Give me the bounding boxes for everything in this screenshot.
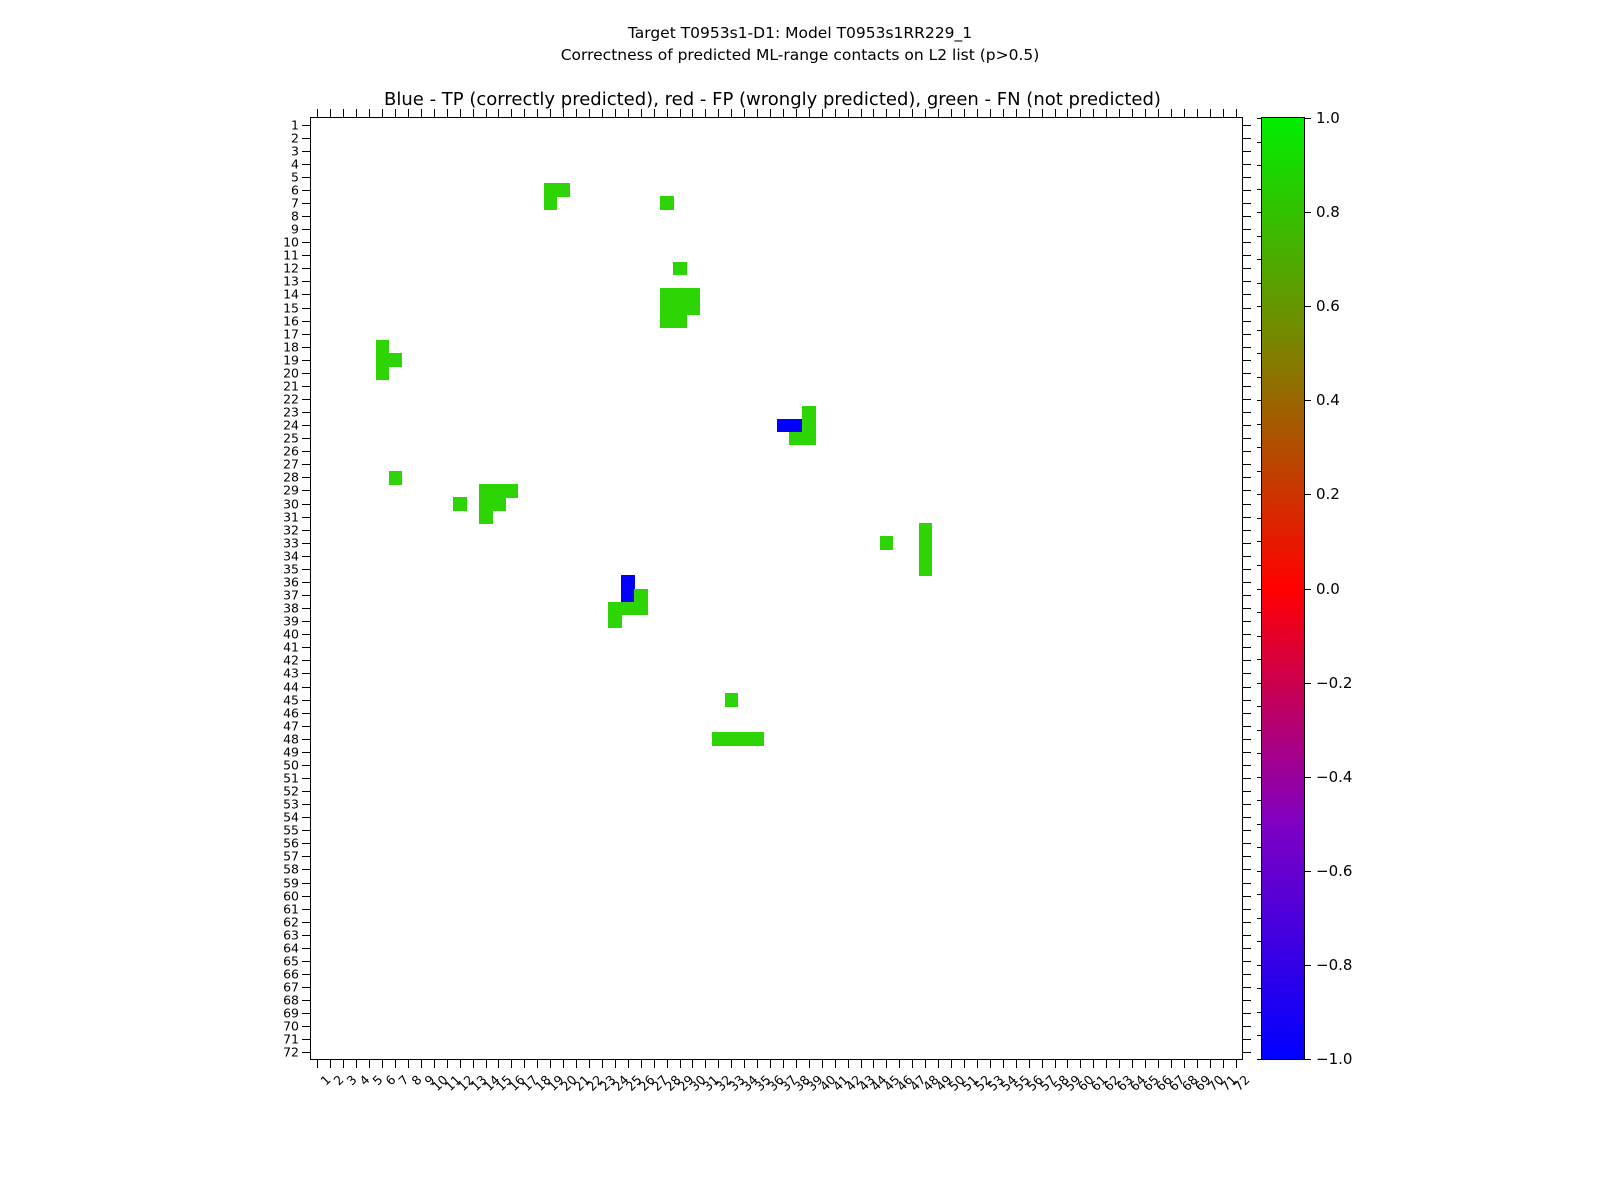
heatmap-cell: [789, 419, 803, 433]
x-tick-mark-top: [460, 109, 461, 118]
heatmap-cell: [479, 497, 493, 511]
x-tick-mark: [912, 1059, 913, 1068]
y-tick-mark: [302, 1026, 311, 1027]
colorbar-minor-tick: [1257, 659, 1262, 660]
x-tick-mark: [654, 1059, 655, 1068]
y-tick-mark-right: [1242, 883, 1251, 884]
colorbar-minor-tick: [1257, 118, 1262, 119]
x-tick-mark: [731, 1059, 732, 1068]
y-tick-mark: [302, 987, 311, 988]
x-tick-mark: [861, 1059, 862, 1068]
y-tick-mark-right: [1242, 229, 1251, 230]
x-tick-mark-top: [628, 109, 629, 118]
x-tick-mark-top: [1119, 109, 1120, 118]
colorbar-minor-tick: [1257, 1059, 1262, 1060]
y-tick-mark-right: [1242, 490, 1251, 491]
y-tick-mark-right: [1242, 294, 1251, 295]
heatmap-cell: [479, 484, 493, 498]
x-tick-mark-top: [770, 109, 771, 118]
y-tick-mark-right: [1242, 582, 1251, 583]
y-tick-mark: [302, 948, 311, 949]
x-tick-mark: [498, 1059, 499, 1068]
y-tick-mark: [302, 216, 311, 217]
colorbar-minor-tick: [1257, 306, 1262, 307]
x-tick-mark: [1029, 1059, 1030, 1068]
colorbar-tick-label: −0.2: [1316, 674, 1352, 692]
heatmap-cell: [673, 288, 687, 302]
heatmap-cell: [919, 562, 933, 576]
y-tick-mark: [302, 425, 311, 426]
x-tick-mark: [1003, 1059, 1004, 1068]
x-tick-mark: [796, 1059, 797, 1068]
heatmap-cell: [660, 314, 674, 328]
y-tick-mark-right: [1242, 869, 1251, 870]
y-tick-mark: [302, 517, 311, 518]
colorbar-tick-mark: [1304, 306, 1311, 307]
y-tick-mark-right: [1242, 125, 1251, 126]
y-tick-mark: [302, 660, 311, 661]
y-tick-mark: [302, 1052, 311, 1053]
contact-map-figure: Target T0953s1-D1: Model T0953s1RR229_1 …: [0, 0, 1600, 1200]
colorbar-minor-tick: [1257, 824, 1262, 825]
x-tick-mark-top: [1080, 109, 1081, 118]
x-tick-mark-top: [498, 109, 499, 118]
x-tick-mark: [770, 1059, 771, 1068]
y-tick-mark: [302, 726, 311, 727]
x-tick-mark: [434, 1059, 435, 1068]
heatmap-cell: [389, 353, 403, 367]
x-axis-tick-label: 72: [1230, 1072, 1252, 1094]
y-tick-mark: [302, 138, 311, 139]
heatmap-cell: [634, 589, 648, 603]
y-tick-mark-right: [1242, 164, 1251, 165]
y-tick-mark: [302, 308, 311, 309]
colorbar-minor-tick: [1257, 424, 1262, 425]
colorbar-minor-tick: [1257, 871, 1262, 872]
x-tick-mark-top: [667, 109, 668, 118]
y-tick-mark: [302, 229, 311, 230]
x-tick-mark-top: [873, 109, 874, 118]
y-tick-mark: [302, 896, 311, 897]
y-tick-mark-right: [1242, 739, 1251, 740]
colorbar-tick-label: −0.6: [1316, 862, 1352, 880]
x-tick-mark: [964, 1059, 965, 1068]
x-tick-mark: [783, 1059, 784, 1068]
y-tick-mark-right: [1242, 425, 1251, 426]
x-tick-mark-top: [1029, 109, 1030, 118]
y-tick-mark-right: [1242, 647, 1251, 648]
x-tick-mark: [589, 1059, 590, 1068]
colorbar-tick-mark: [1304, 871, 1311, 872]
colorbar-tick-mark: [1304, 777, 1311, 778]
x-tick-mark-top: [1210, 109, 1211, 118]
x-tick-mark-top: [473, 109, 474, 118]
x-tick-mark-top: [744, 109, 745, 118]
x-tick-mark-top: [912, 109, 913, 118]
x-tick-mark: [1132, 1059, 1133, 1068]
x-tick-mark-top: [757, 109, 758, 118]
y-tick-mark: [302, 621, 311, 622]
y-tick-mark-right: [1242, 138, 1251, 139]
y-tick-mark-right: [1242, 987, 1251, 988]
heatmap-cell: [712, 732, 726, 746]
x-tick-mark: [1158, 1059, 1159, 1068]
y-tick-mark-right: [1242, 360, 1251, 361]
y-tick-mark: [302, 909, 311, 910]
y-tick-mark-right: [1242, 477, 1251, 478]
y-tick-mark-right: [1242, 909, 1251, 910]
x-tick-mark: [1236, 1059, 1237, 1068]
y-tick-mark-right: [1242, 569, 1251, 570]
colorbar: 1.00.80.60.40.20.0−0.2−0.4−0.6−0.8−1.0: [1261, 117, 1305, 1060]
y-tick-mark-right: [1242, 817, 1251, 818]
x-tick-mark: [1197, 1059, 1198, 1068]
x-tick-mark-top: [822, 109, 823, 118]
y-tick-mark: [302, 543, 311, 544]
x-tick-mark-top: [692, 109, 693, 118]
y-tick-mark: [302, 360, 311, 361]
colorbar-tick-mark: [1304, 400, 1311, 401]
x-tick-mark: [615, 1059, 616, 1068]
y-tick-mark-right: [1242, 543, 1251, 544]
x-tick-mark: [667, 1059, 668, 1068]
y-tick-mark-right: [1242, 634, 1251, 635]
x-tick-mark-top: [925, 109, 926, 118]
colorbar-tick-mark: [1304, 1059, 1311, 1060]
x-tick-mark: [692, 1059, 693, 1068]
x-tick-mark: [757, 1059, 758, 1068]
heatmap-cell: [751, 732, 765, 746]
y-tick-mark-right: [1242, 177, 1251, 178]
heatmap-cell: [660, 288, 674, 302]
x-tick-mark: [1080, 1059, 1081, 1068]
heatmap-cell: [919, 536, 933, 550]
heatmap-cell: [376, 366, 390, 380]
heatmap-cell: [621, 575, 635, 589]
y-tick-mark-right: [1242, 843, 1251, 844]
y-tick-mark: [302, 373, 311, 374]
figure-suptitle: Target T0953s1-D1: Model T0953s1RR229_1 …: [0, 22, 1600, 66]
y-tick-mark: [302, 164, 311, 165]
x-tick-mark: [977, 1059, 978, 1068]
y-tick-mark: [302, 125, 311, 126]
x-tick-mark-top: [447, 109, 448, 118]
y-tick-mark: [302, 203, 311, 204]
y-tick-mark: [302, 830, 311, 831]
colorbar-tick-mark: [1304, 118, 1311, 119]
colorbar-tick-label: 0.8: [1316, 203, 1340, 221]
heatmap-cell: [802, 406, 816, 420]
colorbar-minor-tick: [1257, 212, 1262, 213]
y-tick-mark: [302, 582, 311, 583]
x-axis-tick-label: 3: [344, 1072, 360, 1088]
x-tick-mark-top: [951, 109, 952, 118]
y-tick-mark-right: [1242, 830, 1251, 831]
colorbar-minor-tick: [1257, 800, 1262, 801]
y-tick-mark-right: [1242, 386, 1251, 387]
y-tick-mark-right: [1242, 700, 1251, 701]
x-tick-mark: [421, 1059, 422, 1068]
y-tick-mark-right: [1242, 504, 1251, 505]
y-tick-mark: [302, 399, 311, 400]
x-tick-mark: [1223, 1059, 1224, 1068]
x-tick-mark: [356, 1059, 357, 1068]
y-tick-mark-right: [1242, 765, 1251, 766]
colorbar-minor-tick: [1257, 847, 1262, 848]
y-tick-mark-right: [1242, 687, 1251, 688]
x-tick-mark: [1055, 1059, 1056, 1068]
x-tick-mark: [330, 1059, 331, 1068]
contact-map-axes: 1234567891011121314151617181920212223242…: [310, 117, 1243, 1060]
colorbar-minor-tick: [1257, 636, 1262, 637]
x-tick-mark-top: [1236, 109, 1237, 118]
x-tick-mark-top: [718, 109, 719, 118]
heatmap-cell: [544, 183, 558, 197]
x-tick-mark-top: [899, 109, 900, 118]
y-tick-mark: [302, 700, 311, 701]
heatmap-cell: [919, 549, 933, 563]
y-tick-mark-right: [1242, 242, 1251, 243]
x-tick-mark-top: [408, 109, 409, 118]
colorbar-minor-tick: [1257, 589, 1262, 590]
y-tick-mark-right: [1242, 334, 1251, 335]
x-tick-mark: [369, 1059, 370, 1068]
x-tick-mark-top: [1158, 109, 1159, 118]
y-tick-mark-right: [1242, 268, 1251, 269]
x-tick-mark-top: [835, 109, 836, 118]
x-tick-mark-top: [680, 109, 681, 118]
y-tick-mark: [302, 856, 311, 857]
x-tick-mark-top: [1197, 109, 1198, 118]
x-tick-mark-top: [990, 109, 991, 118]
colorbar-minor-tick: [1257, 259, 1262, 260]
x-tick-mark-top: [977, 109, 978, 118]
x-tick-mark-top: [1184, 109, 1185, 118]
y-tick-mark: [302, 713, 311, 714]
x-tick-mark-top: [654, 109, 655, 118]
y-tick-mark: [302, 935, 311, 936]
x-tick-mark: [641, 1059, 642, 1068]
x-tick-mark: [1184, 1059, 1185, 1068]
x-tick-mark-top: [550, 109, 551, 118]
heatmap-cells: [311, 118, 1242, 1059]
x-tick-mark: [1106, 1059, 1107, 1068]
colorbar-minor-tick: [1257, 683, 1262, 684]
y-tick-mark: [302, 791, 311, 792]
y-tick-mark: [302, 752, 311, 753]
x-tick-mark: [848, 1059, 849, 1068]
y-tick-mark: [302, 883, 311, 884]
x-tick-mark: [1093, 1059, 1094, 1068]
y-tick-mark-right: [1242, 216, 1251, 217]
y-tick-mark: [302, 451, 311, 452]
colorbar-minor-tick: [1257, 353, 1262, 354]
colorbar-minor-tick: [1257, 330, 1262, 331]
x-tick-mark-top: [486, 109, 487, 118]
heatmap-cell: [880, 536, 894, 550]
y-tick-mark-right: [1242, 308, 1251, 309]
x-tick-mark: [408, 1059, 409, 1068]
x-tick-mark: [460, 1059, 461, 1068]
suptitle-line-2: Correctness of predicted ML-range contac…: [0, 44, 1600, 66]
y-tick-mark-right: [1242, 948, 1251, 949]
colorbar-minor-tick: [1257, 565, 1262, 566]
colorbar-minor-tick: [1257, 918, 1262, 919]
heatmap-cell: [557, 183, 571, 197]
colorbar-tick-label: −0.4: [1316, 768, 1352, 786]
x-tick-mark-top: [576, 109, 577, 118]
x-tick-mark-top: [1093, 109, 1094, 118]
y-tick-mark: [302, 647, 311, 648]
x-tick-mark: [382, 1059, 383, 1068]
y-tick-mark-right: [1242, 608, 1251, 609]
heatmap-cell: [608, 615, 622, 629]
x-tick-mark: [718, 1059, 719, 1068]
y-tick-mark: [302, 438, 311, 439]
x-tick-mark-top: [537, 109, 538, 118]
heatmap-cell: [376, 353, 390, 367]
y-tick-mark-right: [1242, 922, 1251, 923]
y-tick-mark: [302, 595, 311, 596]
y-tick-mark: [302, 347, 311, 348]
x-tick-mark: [951, 1059, 952, 1068]
y-tick-mark: [302, 255, 311, 256]
y-tick-mark-right: [1242, 896, 1251, 897]
heatmap-cell: [634, 602, 648, 616]
y-tick-mark: [302, 281, 311, 282]
y-tick-mark: [302, 974, 311, 975]
x-tick-mark-top: [330, 109, 331, 118]
heatmap-cell: [919, 523, 933, 537]
y-tick-mark-right: [1242, 556, 1251, 557]
y-tick-mark: [302, 504, 311, 505]
x-tick-mark-top: [589, 109, 590, 118]
y-tick-mark-right: [1242, 530, 1251, 531]
x-tick-mark: [511, 1059, 512, 1068]
y-tick-mark: [302, 294, 311, 295]
colorbar-tick-label: 0.4: [1316, 391, 1340, 409]
x-tick-mark: [1042, 1059, 1043, 1068]
colorbar-minor-tick: [1257, 706, 1262, 707]
y-tick-mark-right: [1242, 935, 1251, 936]
x-tick-mark-top: [356, 109, 357, 118]
x-tick-mark-top: [705, 109, 706, 118]
y-tick-mark: [302, 673, 311, 674]
colorbar-minor-tick: [1257, 541, 1262, 542]
colorbar-minor-tick: [1257, 965, 1262, 966]
axes-title: Blue - TP (correctly predicted), red - F…: [0, 89, 1545, 110]
x-tick-mark-top: [796, 109, 797, 118]
x-tick-mark-top: [809, 109, 810, 118]
colorbar-tick-label: 0.2: [1316, 485, 1340, 503]
y-tick-mark: [302, 778, 311, 779]
heatmap-cell: [802, 432, 816, 446]
y-tick-mark-right: [1242, 321, 1251, 322]
colorbar-minor-tick: [1257, 612, 1262, 613]
y-tick-mark-right: [1242, 203, 1251, 204]
x-tick-mark: [550, 1059, 551, 1068]
x-tick-mark-top: [615, 109, 616, 118]
colorbar-tick-label: −0.8: [1316, 956, 1352, 974]
x-tick-mark: [447, 1059, 448, 1068]
colorbar-tick-mark: [1304, 683, 1311, 684]
x-tick-mark: [835, 1059, 836, 1068]
x-tick-mark-top: [602, 109, 603, 118]
y-tick-mark: [302, 177, 311, 178]
y-tick-mark-right: [1242, 1052, 1251, 1053]
heatmap-cell: [738, 732, 752, 746]
y-tick-mark: [302, 477, 311, 478]
y-tick-mark: [302, 804, 311, 805]
y-tick-mark-right: [1242, 752, 1251, 753]
x-tick-mark: [680, 1059, 681, 1068]
y-tick-mark-right: [1242, 856, 1251, 857]
x-tick-mark-top: [886, 109, 887, 118]
heatmap-cell: [389, 471, 403, 485]
y-tick-mark-right: [1242, 660, 1251, 661]
colorbar-minor-tick: [1257, 447, 1262, 448]
y-tick-mark: [302, 334, 311, 335]
x-tick-mark: [1119, 1059, 1120, 1068]
x-tick-mark: [628, 1059, 629, 1068]
colorbar-minor-tick: [1257, 941, 1262, 942]
colorbar-tick-mark: [1304, 494, 1311, 495]
heatmap-cell: [479, 510, 493, 524]
heatmap-cell: [621, 602, 635, 616]
colorbar-tick-mark: [1304, 212, 1311, 213]
colorbar-minor-tick: [1257, 283, 1262, 284]
x-tick-mark: [1210, 1059, 1211, 1068]
y-tick-mark: [302, 765, 311, 766]
x-tick-mark-top: [1067, 109, 1068, 118]
x-tick-mark-top: [1132, 109, 1133, 118]
x-tick-mark: [899, 1059, 900, 1068]
heatmap-cell: [660, 196, 674, 210]
x-tick-mark-top: [524, 109, 525, 118]
colorbar-minor-tick: [1257, 730, 1262, 731]
x-tick-mark-top: [343, 109, 344, 118]
colorbar-tick-mark: [1304, 965, 1311, 966]
x-tick-mark-top: [861, 109, 862, 118]
x-tick-mark-top: [1145, 109, 1146, 118]
y-tick-mark-right: [1242, 281, 1251, 282]
x-tick-mark-top: [938, 109, 939, 118]
x-tick-mark-top: [563, 109, 564, 118]
x-axis-tick-label: 5: [370, 1072, 386, 1088]
y-tick-mark: [302, 530, 311, 531]
heatmap-cell: [725, 732, 739, 746]
x-tick-mark-top: [369, 109, 370, 118]
x-tick-mark-top: [1055, 109, 1056, 118]
suptitle-line-1: Target T0953s1-D1: Model T0953s1RR229_1: [0, 22, 1600, 44]
x-axis-tick-label: 6: [382, 1072, 398, 1088]
y-tick-mark: [302, 556, 311, 557]
x-tick-mark: [938, 1059, 939, 1068]
x-tick-mark-top: [1106, 109, 1107, 118]
colorbar-tick-label: 0.6: [1316, 297, 1340, 315]
y-tick-mark-right: [1242, 399, 1251, 400]
colorbar-tick-label: −1.0: [1316, 1050, 1352, 1068]
colorbar-tick-label: 1.0: [1316, 109, 1340, 127]
colorbar-minor-tick: [1257, 753, 1262, 754]
heatmap-cell: [621, 589, 635, 603]
x-axis-tick-label: 8: [408, 1072, 424, 1088]
heatmap-cell: [777, 419, 791, 433]
x-tick-mark: [563, 1059, 564, 1068]
x-tick-mark-top: [1003, 109, 1004, 118]
y-tick-mark-right: [1242, 1039, 1251, 1040]
colorbar-minor-tick: [1257, 142, 1262, 143]
